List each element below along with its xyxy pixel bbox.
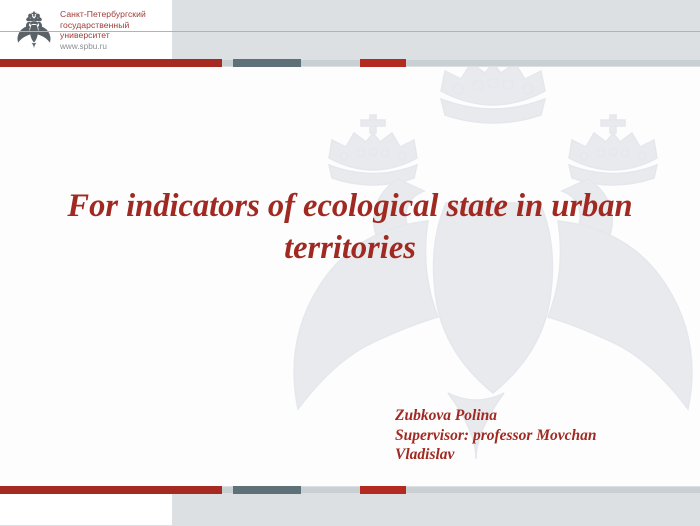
org-line-1: Санкт-Петербургский [60, 9, 170, 20]
bar-segment-red-right [360, 59, 406, 67]
bar-segment-red-right [360, 486, 406, 494]
slide-footer [0, 494, 700, 526]
university-url: www.spbu.ru [60, 42, 170, 53]
slide-header: Санкт-Петербургский государственный унив… [0, 0, 700, 60]
supervisor-line-1: Supervisor: professor Movchan [395, 426, 665, 446]
title-line-1: For indicators of ecological state in [67, 188, 543, 224]
author-name: Zubkova Polina [395, 406, 665, 426]
footer-white-panel [0, 494, 172, 525]
bar-segment-slate [233, 59, 301, 67]
bar-segment-red-left [0, 59, 222, 67]
top-decorative-bar [0, 59, 700, 67]
footer-divider [0, 31, 700, 32]
slide-body: For indicators of ecological state in ur… [0, 67, 700, 486]
org-line-2: государственный [60, 20, 170, 31]
bar-segment-red-left [0, 486, 222, 494]
author-block: Zubkova Polina Supervisor: professor Mov… [395, 406, 665, 465]
bar-segment-slate [233, 486, 301, 494]
double-headed-eagle-emblem-icon [12, 9, 56, 51]
university-logo-box: Санкт-Петербургский государственный унив… [0, 0, 172, 59]
page-title: For indicators of ecological state in ur… [60, 185, 640, 269]
bottom-decorative-bar [0, 486, 700, 494]
supervisor-line-2: Vladislav [395, 445, 665, 465]
presentation-slide: Санкт-Петербургский государственный унив… [0, 0, 700, 526]
